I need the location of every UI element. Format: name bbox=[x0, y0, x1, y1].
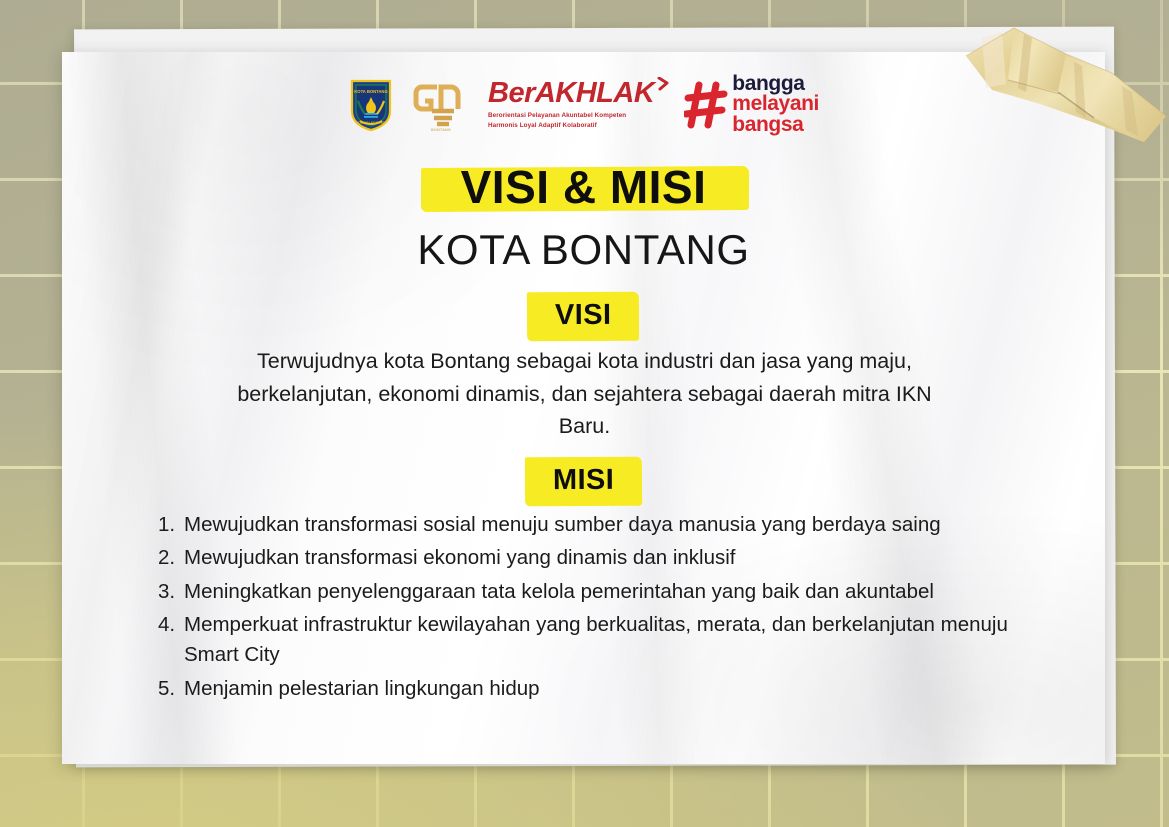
misi-badge-label: MISI bbox=[553, 464, 614, 496]
bangga-melayani-bangsa-logo: bangga melayani bangsa bbox=[684, 74, 819, 135]
title-main-wrapper: VISI & MISI bbox=[435, 160, 733, 214]
misi-badge-row: MISI bbox=[62, 457, 1105, 506]
misi-item-text: Mewujudkan transformasi ekonomi yang din… bbox=[184, 546, 736, 569]
misi-item-number: 5. bbox=[158, 674, 175, 704]
misi-list-item: 4.Memperkuat infrastruktur kewilayahan y… bbox=[158, 610, 1038, 671]
misi-item-number: 2. bbox=[158, 543, 175, 573]
berakhlak-wordmark: BerAKHLAK bbox=[488, 79, 654, 108]
visi-statement: Terwujudnya kota Bontang sebagai kota in… bbox=[212, 345, 957, 443]
misi-item-number: 3. bbox=[158, 577, 175, 607]
chevron-right-icon bbox=[656, 77, 670, 91]
berakhlak-logo: BerAKHLAK Berorientasi Pelayanan Akuntab… bbox=[488, 79, 670, 129]
poster-title-block: VISI & MISI KOTA BONTANG bbox=[62, 160, 1105, 274]
bmb-line-1: bangga bbox=[732, 74, 819, 94]
page-subtitle: KOTA BONTANG bbox=[62, 226, 1105, 274]
misi-list: 1.Mewujudkan transformasi sosial menuju … bbox=[158, 510, 1038, 707]
misi-list-item: 2.Mewujudkan transformasi ekonomi yang d… bbox=[158, 543, 1038, 573]
misi-list-item: 1.Mewujudkan transformasi sosial menuju … bbox=[158, 510, 1038, 540]
misi-item-text: Menjamin pelestarian lingkungan hidup bbox=[184, 677, 540, 700]
misi-list-item: 5.Menjamin pelestarian lingkungan hidup bbox=[158, 674, 1038, 704]
visi-badge: VISI bbox=[527, 292, 640, 342]
logo-strip: KOTA BONTANG TAMAN NEGERI bbox=[62, 74, 1105, 135]
misi-item-text: Meningkatkan penyelenggaraan tata kelola… bbox=[184, 580, 934, 603]
misi-item-text: Mewujudkan transformasi sosial menuju su… bbox=[184, 513, 941, 536]
svg-text:KOTA BONTANG: KOTA BONTANG bbox=[354, 89, 387, 94]
visi-badge-row: VISI bbox=[62, 292, 1105, 341]
misi-item-number: 4. bbox=[158, 610, 175, 640]
misi-list-item: 3.Meningkatkan penyelenggaraan tata kelo… bbox=[158, 577, 1038, 607]
city-emblem-icon: KOTA BONTANG TAMAN NEGERI bbox=[348, 77, 394, 133]
misi-item-text: Memperkuat infrastruktur kewilayahan yan… bbox=[184, 613, 1008, 666]
hash-icon bbox=[684, 81, 728, 129]
misi-item-number: 1. bbox=[158, 510, 175, 540]
poster-canvas: KOTA BONTANG TAMAN NEGERI bbox=[0, 0, 1169, 827]
bmb-line-2: melayani bbox=[732, 94, 819, 114]
svg-text:TAMAN NEGERI: TAMAN NEGERI bbox=[357, 121, 384, 125]
visi-badge-label: VISI bbox=[555, 299, 612, 331]
gde-emblem-icon: BONTANG bbox=[408, 77, 474, 133]
berakhlak-subtitle: Berorientasi Pelayanan Akuntabel Kompete… bbox=[488, 111, 626, 129]
poster-content: KOTA BONTANG TAMAN NEGERI bbox=[62, 52, 1105, 764]
bmb-line-3: bangsa bbox=[732, 115, 819, 135]
misi-badge: MISI bbox=[525, 457, 642, 507]
page-title: VISI & MISI bbox=[461, 161, 707, 213]
svg-text:BONTANG: BONTANG bbox=[431, 127, 451, 132]
